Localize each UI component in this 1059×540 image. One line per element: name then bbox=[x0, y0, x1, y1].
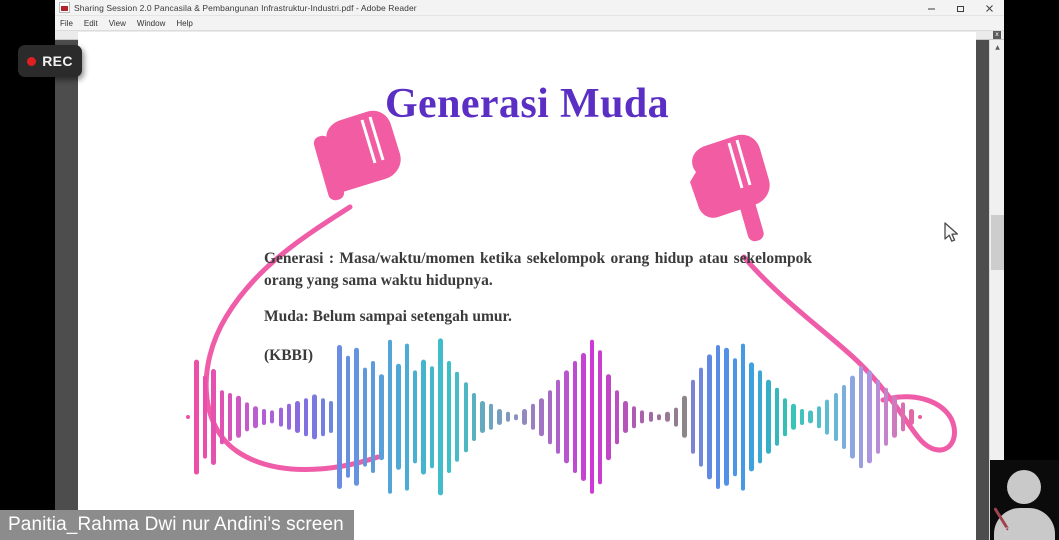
waveform-bar bbox=[186, 415, 190, 419]
right-black-band bbox=[1004, 0, 1059, 540]
close-icon[interactable] bbox=[975, 0, 1004, 16]
waveform-bar bbox=[649, 412, 653, 422]
window-titlebar[interactable]: Sharing Session 2.0 Pancasila & Pembangu… bbox=[55, 0, 1004, 16]
document-close-icon[interactable]: x bbox=[993, 31, 1001, 39]
waveform-bar bbox=[800, 409, 804, 425]
waveform-bar bbox=[388, 340, 392, 494]
waveform-bar bbox=[606, 374, 610, 460]
left-black-band bbox=[0, 0, 55, 540]
waveform-bar bbox=[892, 396, 896, 438]
mouse-pointer-icon bbox=[943, 222, 961, 246]
waveform-bar bbox=[850, 375, 854, 458]
waveform-bar bbox=[834, 393, 838, 441]
chevron-up-icon[interactable]: ▲ bbox=[990, 40, 1005, 55]
waveform-bar bbox=[733, 358, 737, 476]
waveform-bar bbox=[691, 380, 695, 454]
waveform-bar bbox=[884, 388, 888, 446]
waveform-bar bbox=[514, 414, 518, 420]
waveform-bar bbox=[775, 388, 779, 446]
waveform-bar bbox=[396, 364, 400, 470]
window-title: Sharing Session 2.0 Pancasila & Pembangu… bbox=[74, 0, 417, 16]
waveform-bar bbox=[531, 404, 535, 430]
waveform-bar bbox=[262, 409, 266, 425]
waveform-bar bbox=[682, 396, 686, 438]
screen-share-label: Panitia_Rahma Dwi nur Andini's screen bbox=[8, 514, 344, 536]
earbud-icon-right bbox=[690, 135, 770, 243]
waveform-bar bbox=[455, 372, 459, 462]
waveform-bar bbox=[363, 367, 367, 466]
menu-item-view[interactable]: View bbox=[109, 16, 126, 31]
waveform-bar bbox=[337, 345, 341, 489]
waveform-bar bbox=[699, 367, 703, 466]
waveform-bar bbox=[245, 403, 249, 432]
slide-canvas: Generasi Muda Generasi : Masa/waktu/mome… bbox=[78, 32, 976, 540]
menu-item-window[interactable]: Window bbox=[137, 16, 165, 31]
waveform-bar bbox=[480, 401, 484, 433]
minimize-icon[interactable] bbox=[917, 0, 946, 16]
waveform-bar bbox=[228, 393, 232, 441]
waveform-bar bbox=[724, 348, 728, 486]
waveform-bar bbox=[506, 412, 510, 422]
participant-thumbnail[interactable]: 2 bbox=[990, 460, 1059, 540]
restore-icon[interactable] bbox=[946, 0, 975, 16]
waveform-bar bbox=[918, 415, 922, 419]
waveform-bar bbox=[497, 409, 501, 425]
waveform-bar bbox=[279, 407, 283, 426]
waveform-bar bbox=[539, 398, 543, 436]
waveform-bar bbox=[825, 399, 829, 434]
recording-label: REC bbox=[42, 53, 72, 69]
page-title: Generasi Muda bbox=[78, 80, 976, 128]
waveform-bar bbox=[564, 371, 568, 464]
audio-waveform-chart bbox=[184, 337, 924, 497]
waveform-bar bbox=[472, 393, 476, 441]
waveform-bar bbox=[295, 401, 299, 433]
waveform-bar bbox=[548, 390, 552, 444]
waveform-bar bbox=[909, 409, 913, 425]
menu-item-file[interactable]: File bbox=[60, 16, 73, 31]
thumbnail-badge: 2 bbox=[1004, 526, 1010, 538]
waveform-bar bbox=[194, 359, 198, 474]
waveform-bar bbox=[623, 401, 627, 433]
pdf-document-icon bbox=[59, 2, 70, 13]
waveform-bar bbox=[556, 380, 560, 454]
waveform-bar bbox=[405, 343, 409, 490]
waveform-bar bbox=[590, 340, 594, 494]
waveform-bar bbox=[783, 398, 787, 436]
menu-item-help[interactable]: Help bbox=[176, 16, 192, 31]
waveform-bar bbox=[211, 369, 215, 465]
waveform-bar bbox=[741, 343, 745, 490]
waveform-bar bbox=[808, 411, 812, 424]
waveform-bar bbox=[371, 361, 375, 473]
waveform-bar bbox=[312, 395, 316, 440]
pdf-viewer-area: Generasi Muda Generasi : Masa/waktu/mome… bbox=[55, 40, 1004, 540]
waveform-bar bbox=[573, 361, 577, 473]
waveform-bar bbox=[447, 361, 451, 473]
waveform-bar bbox=[413, 371, 417, 464]
waveform-bar bbox=[464, 382, 468, 452]
waveform-bar bbox=[270, 411, 274, 424]
waveform-bar bbox=[766, 380, 770, 454]
window-controls bbox=[917, 0, 1004, 16]
screen-share-banner: Panitia_Rahma Dwi nur Andini's screen bbox=[0, 510, 354, 540]
menu-item-edit[interactable]: Edit bbox=[84, 16, 98, 31]
waveform-bar bbox=[354, 348, 358, 486]
paragraph-muda: Muda: Belum sampai setengah umur. bbox=[264, 308, 512, 326]
waveform-bar bbox=[640, 411, 644, 424]
waveform-bar bbox=[817, 406, 821, 428]
recording-indicator: REC bbox=[18, 45, 82, 77]
waveform-bar bbox=[489, 404, 493, 430]
waveform-bar bbox=[867, 371, 871, 464]
waveform-bar bbox=[220, 390, 224, 444]
waveform-bar bbox=[716, 345, 720, 489]
waveform-bar bbox=[901, 403, 905, 432]
paragraph-generasi: Generasi : Masa/waktu/momen ketika sekel… bbox=[264, 248, 812, 292]
waveform-bar bbox=[321, 398, 325, 436]
person-avatar-icon bbox=[1007, 470, 1041, 504]
waveform-bar bbox=[615, 390, 619, 444]
record-dot-icon bbox=[27, 57, 36, 66]
waveform-bar bbox=[430, 366, 434, 468]
waveform-bar bbox=[876, 380, 880, 454]
waveform-bar bbox=[581, 353, 585, 481]
waveform-bar bbox=[379, 374, 383, 460]
waveform-bar bbox=[287, 404, 291, 430]
menu-bar: File Edit View Window Help bbox=[55, 16, 1004, 31]
waveform-bar bbox=[707, 355, 711, 480]
waveform-bar bbox=[657, 414, 661, 420]
waveform-bar bbox=[632, 406, 636, 428]
waveform-bar bbox=[253, 406, 257, 428]
waveform-bar bbox=[329, 401, 333, 433]
waveform-bar bbox=[421, 359, 425, 474]
waveform-bar bbox=[749, 363, 753, 472]
waveform-bar bbox=[346, 356, 350, 478]
waveform-bar bbox=[203, 375, 207, 458]
waveform-bar bbox=[598, 350, 602, 484]
adobe-reader-window: Sharing Session 2.0 Pancasila & Pembangu… bbox=[55, 0, 1004, 540]
waveform-bar bbox=[859, 366, 863, 468]
waveform-bar bbox=[236, 396, 240, 438]
pdf-page: Generasi Muda Generasi : Masa/waktu/mome… bbox=[78, 32, 976, 540]
waveform-bar bbox=[438, 339, 442, 496]
waveform-bar bbox=[758, 371, 762, 464]
screen-share-view: Sharing Session 2.0 Pancasila & Pembangu… bbox=[0, 0, 1059, 540]
waveform-bar bbox=[304, 398, 308, 436]
waveform-bar bbox=[791, 404, 795, 430]
waveform-bar bbox=[674, 407, 678, 426]
waveform-bar bbox=[665, 412, 669, 422]
waveform-bar bbox=[842, 385, 846, 449]
scrollbar-thumb[interactable] bbox=[991, 215, 1004, 270]
waveform-bar bbox=[522, 409, 526, 425]
